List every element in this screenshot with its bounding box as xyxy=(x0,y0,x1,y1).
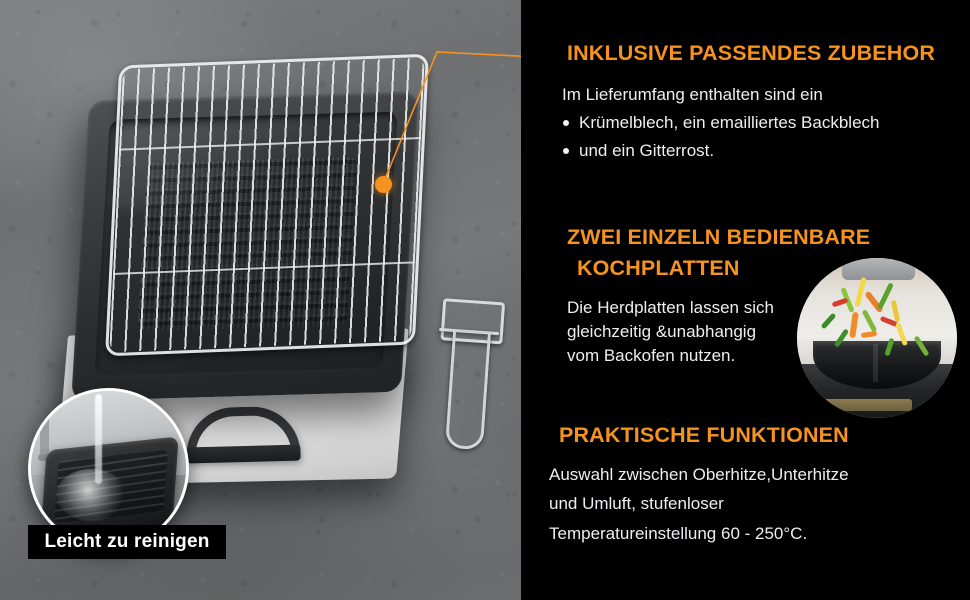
section3-body-line3: Temperatureinstellung 60 - 250°C. xyxy=(549,524,807,543)
list-item: Krümelblech, ein emailliertes Backblech xyxy=(562,109,970,137)
section-included-accessories: INKLUSIVE PASSENDES ZUBEHOR Im Lieferumf… xyxy=(521,38,970,165)
section1-body: Im Lieferumfang enthalten sind ein Krüme… xyxy=(521,81,970,166)
section2-body-line3: vom Backofen nutzen. xyxy=(567,346,735,365)
infographic-stage: Leicht zu reinigen INKLUSIVE PASSENDES Z… xyxy=(0,0,970,600)
rack-wires xyxy=(109,58,425,352)
section1-intro: Im Lieferumfang enthalten sind ein xyxy=(562,81,970,109)
section3-heading: PRAKTISCHE FUNKTIONEN xyxy=(521,420,970,451)
caption-label: Leicht zu reinigen xyxy=(44,531,209,553)
section1-heading: INKLUSIVE PASSENDES ZUBEHOR xyxy=(521,38,970,69)
easy-to-clean-caption: Leicht zu reinigen xyxy=(28,525,226,559)
section2-body-line1: Die Herdplatten lassen sich xyxy=(567,298,774,317)
section-practical-functions: PRAKTISCHE FUNKTIONEN Auswahl zwischen O… xyxy=(521,420,970,548)
tool-wire-handle xyxy=(445,331,491,450)
section3-body-line1: Auswahl zwischen Oberhitze,Unterhitze xyxy=(549,465,849,484)
section2-heading-line1: ZWEI EINZELN BEDIENBARE xyxy=(567,225,870,249)
section3-body: Auswahl zwischen Oberhitze,Unterhitze un… xyxy=(521,460,970,549)
faucet-icon xyxy=(40,410,49,456)
accessory-callout-dot xyxy=(375,176,392,193)
product-photo: Leicht zu reinigen xyxy=(0,0,521,600)
section1-bullet-list: Krümelblech, ein emailliertes Backblech … xyxy=(562,109,970,165)
wire-grill-rack xyxy=(105,54,429,357)
section2-body: Die Herdplatten lassen sich gleichzeitig… xyxy=(521,296,970,367)
tray-puller-tool xyxy=(427,298,507,453)
feature-text-panel: INKLUSIVE PASSENDES ZUBEHOR Im Lieferumf… xyxy=(521,0,970,600)
list-item: und ein Gitterrost. xyxy=(562,137,970,165)
range-hood xyxy=(842,258,916,280)
water-splash xyxy=(56,469,127,522)
section2-body-line2: gleichzeitig &unabhangig xyxy=(567,322,756,341)
section3-body-line2: und Umluft, stufenloser xyxy=(549,494,724,513)
